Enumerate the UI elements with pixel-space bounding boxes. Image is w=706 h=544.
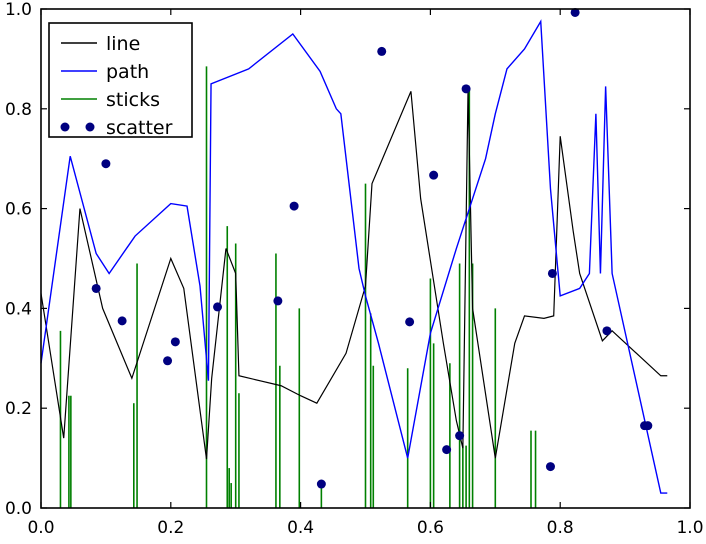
scatter-point (602, 326, 611, 335)
y-tick-label: 0.4 (5, 299, 32, 319)
scatter-point (273, 296, 282, 305)
scatter-point (442, 445, 451, 454)
y-tick-label: 0.6 (5, 200, 32, 220)
figure-canvas: 0.00.20.40.60.81.0 0.00.20.40.60.81.0 li… (0, 0, 706, 544)
chart-plot: 0.00.20.40.60.81.0 0.00.20.40.60.81.0 li… (0, 0, 706, 544)
x-tick-label: 0.2 (157, 518, 184, 538)
legend-marker-swatch (61, 123, 70, 132)
legend-label-sticks[interactable]: sticks (106, 89, 160, 111)
scatter-point (290, 202, 299, 211)
scatter-point (118, 316, 127, 325)
legend-label-path[interactable]: path (106, 61, 149, 83)
scatter-point (455, 431, 464, 440)
x-tick-label: 0.4 (287, 518, 314, 538)
legend-label-line[interactable]: line (106, 33, 140, 55)
scatter-point (462, 84, 471, 93)
scatter-point (429, 171, 438, 180)
y-tick-label: 0.8 (5, 100, 32, 120)
scatter-point (101, 159, 110, 168)
x-tick-label: 0.0 (27, 518, 54, 538)
x-tick-label: 0.8 (547, 518, 574, 538)
y-tick-label: 0.2 (5, 399, 32, 419)
scatter-point (213, 302, 222, 311)
chart-legend[interactable]: linepathsticksscatter (49, 23, 192, 139)
scatter-point (317, 480, 326, 489)
scatter-point (546, 462, 555, 471)
y-tick-label: 0.0 (5, 499, 32, 519)
x-tick-label: 0.6 (417, 518, 444, 538)
legend-label-scatter[interactable]: scatter (106, 117, 173, 139)
scatter-point (377, 47, 386, 56)
scatter-point (643, 421, 652, 430)
legend-marker-swatch (86, 123, 95, 132)
scatter-point (171, 337, 180, 346)
y-tick-label: 1.0 (5, 0, 32, 20)
scatter-point (163, 356, 172, 365)
scatter-point (405, 317, 414, 326)
scatter-point (548, 269, 557, 278)
scatter-point (92, 284, 101, 293)
x-tick-label: 1.0 (676, 518, 703, 538)
